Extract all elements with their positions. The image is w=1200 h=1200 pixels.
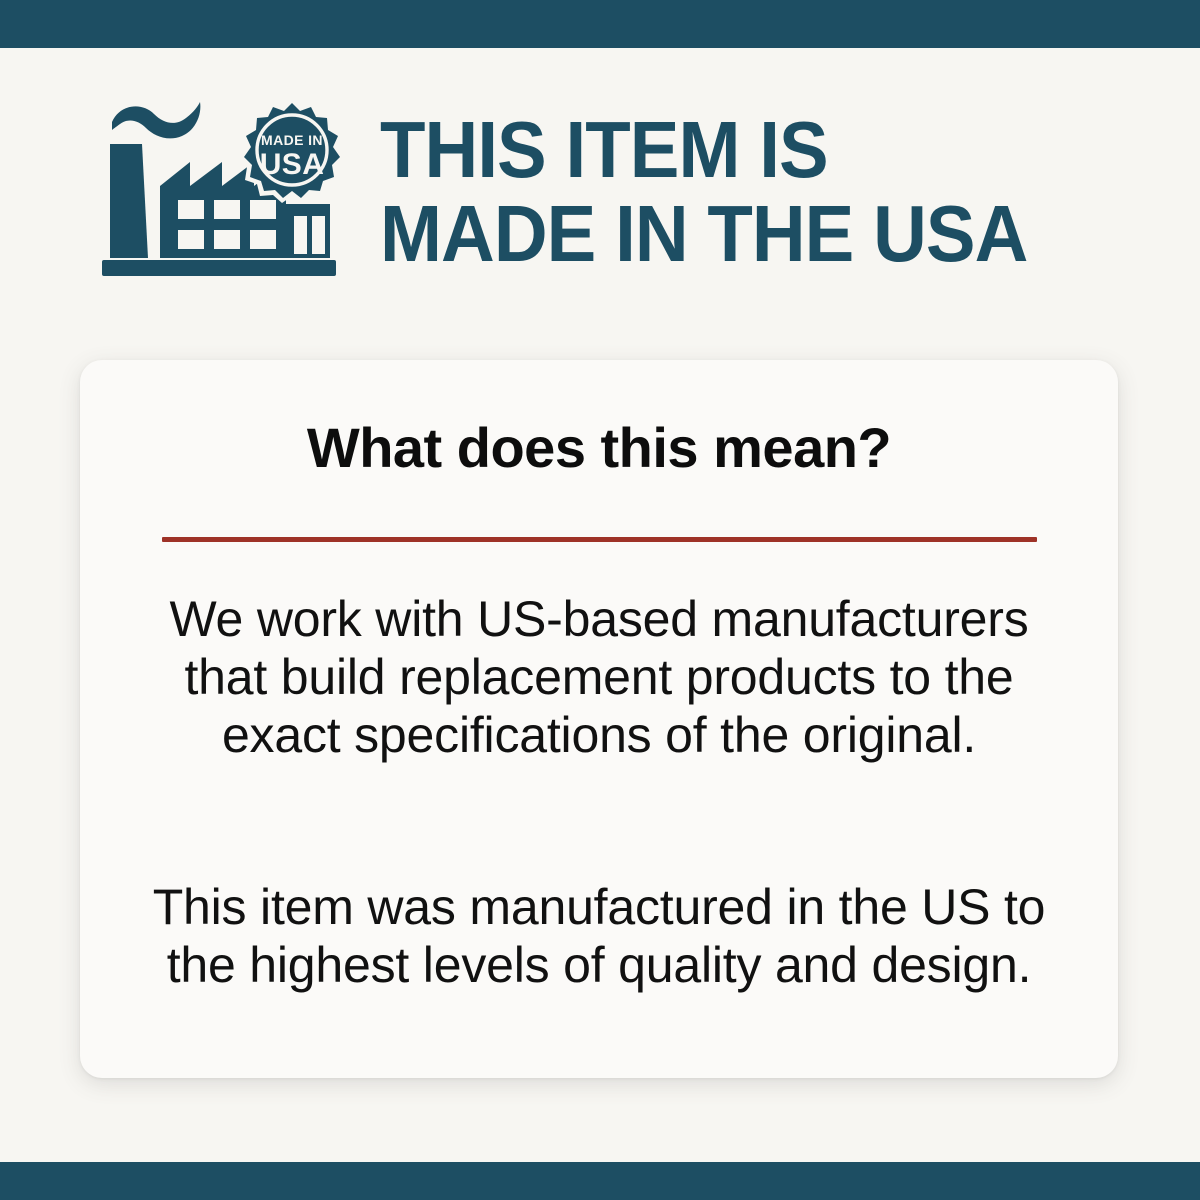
smokestack-icon	[110, 144, 148, 258]
badge-made-in-text: MADE IN	[261, 132, 323, 148]
info-card: What does this mean? We work with US-bas…	[80, 360, 1118, 1078]
page-title-line-1: THIS ITEM IS	[380, 108, 1115, 192]
factory-base-icon	[102, 260, 336, 276]
factory-badge-logo: MADE IN USA	[98, 100, 340, 280]
page-title-line-2: MADE IN THE USA	[380, 192, 1115, 276]
made-in-usa-banner: MADE IN USA THIS ITEM IS MADE IN THE USA…	[0, 0, 1200, 1200]
bottom-color-band	[0, 1162, 1200, 1200]
card-paragraph-2: This item was manufactured in the US to …	[140, 878, 1058, 994]
top-color-band	[0, 0, 1200, 48]
card-divider	[162, 537, 1037, 542]
header-section: MADE IN USA THIS ITEM IS MADE IN THE USA	[0, 48, 1200, 308]
page-title: THIS ITEM IS MADE IN THE USA	[380, 108, 1115, 276]
smoke-icon	[112, 102, 200, 138]
card-heading: What does this mean?	[80, 418, 1118, 478]
badge-usa-text: USA	[260, 148, 325, 181]
card-paragraph-1: We work with US-based manufacturers that…	[140, 590, 1058, 764]
